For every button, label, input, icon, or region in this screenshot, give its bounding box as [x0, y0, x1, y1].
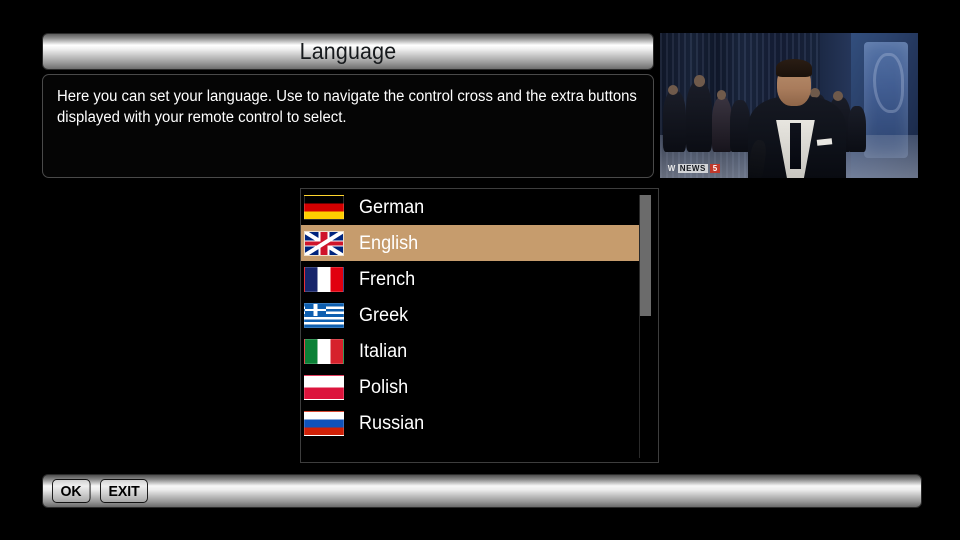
video-crowd-head	[717, 90, 726, 99]
page-title: Language	[300, 38, 397, 65]
uk-red-cross	[305, 232, 343, 255]
list-scrollbar-thumb[interactable]	[640, 195, 651, 316]
flag-france-icon	[304, 267, 344, 292]
language-list-item[interactable]: Polish	[301, 369, 641, 405]
video-reporter-hair	[776, 59, 812, 76]
language-list-item-label: Greek	[359, 306, 408, 325]
flag-germany-icon	[304, 195, 344, 220]
language-list-item[interactable]: Greek	[301, 297, 641, 333]
flag-russia-icon	[304, 411, 344, 436]
language-list-item-label: French	[359, 270, 415, 289]
flag-italy-icon	[304, 339, 344, 364]
language-list-panel[interactable]: GermanEnglishFrenchGreekItalianPolishRus…	[300, 188, 659, 463]
list-scrollbar-track[interactable]	[639, 195, 650, 458]
video-crowd-head	[694, 75, 705, 87]
video-preview-panel[interactable]: W NEWS 5	[660, 33, 918, 178]
language-list-item[interactable]: French	[301, 261, 641, 297]
exit-button[interactable]: EXIT	[100, 479, 148, 503]
bottom-action-bar: OK EXIT	[42, 474, 922, 508]
flag-united-kingdom-icon	[304, 231, 344, 256]
language-list-item[interactable]: German	[301, 189, 641, 225]
video-crowd-figure	[663, 91, 686, 152]
video-crowd-figure	[848, 106, 866, 152]
language-list-item-label: Polish	[359, 378, 408, 397]
channel-bug-mark: W	[668, 164, 676, 173]
language-list-item-label: Russian	[359, 414, 424, 433]
language-list-item[interactable]: Russian	[301, 405, 641, 441]
channel-bug-word: NEWS	[678, 164, 708, 173]
channel-bug-number: 5	[710, 164, 720, 173]
title-bar: Language	[42, 33, 654, 70]
language-list-item-label: English	[359, 234, 418, 253]
video-crowd-figure	[686, 82, 712, 152]
language-list-item[interactable]: Italian	[301, 333, 641, 369]
language-list: GermanEnglishFrenchGreekItalianPolishRus…	[301, 189, 641, 441]
video-reporter-tie	[790, 123, 801, 169]
flag-greece-icon	[304, 303, 344, 328]
uk-white-cross	[305, 232, 343, 255]
language-list-item-label: Italian	[359, 342, 407, 361]
description-box: Here you can set your language. Use to n…	[42, 74, 654, 178]
video-crowd-head	[833, 91, 843, 101]
channel-logo-bug: W NEWS 5	[668, 163, 721, 174]
language-list-item[interactable]: English	[301, 225, 641, 261]
description-text: Here you can set your language. Use to n…	[57, 87, 638, 128]
flag-poland-icon	[304, 375, 344, 400]
language-list-item-label: German	[359, 198, 424, 217]
ok-button[interactable]: OK	[52, 479, 90, 503]
